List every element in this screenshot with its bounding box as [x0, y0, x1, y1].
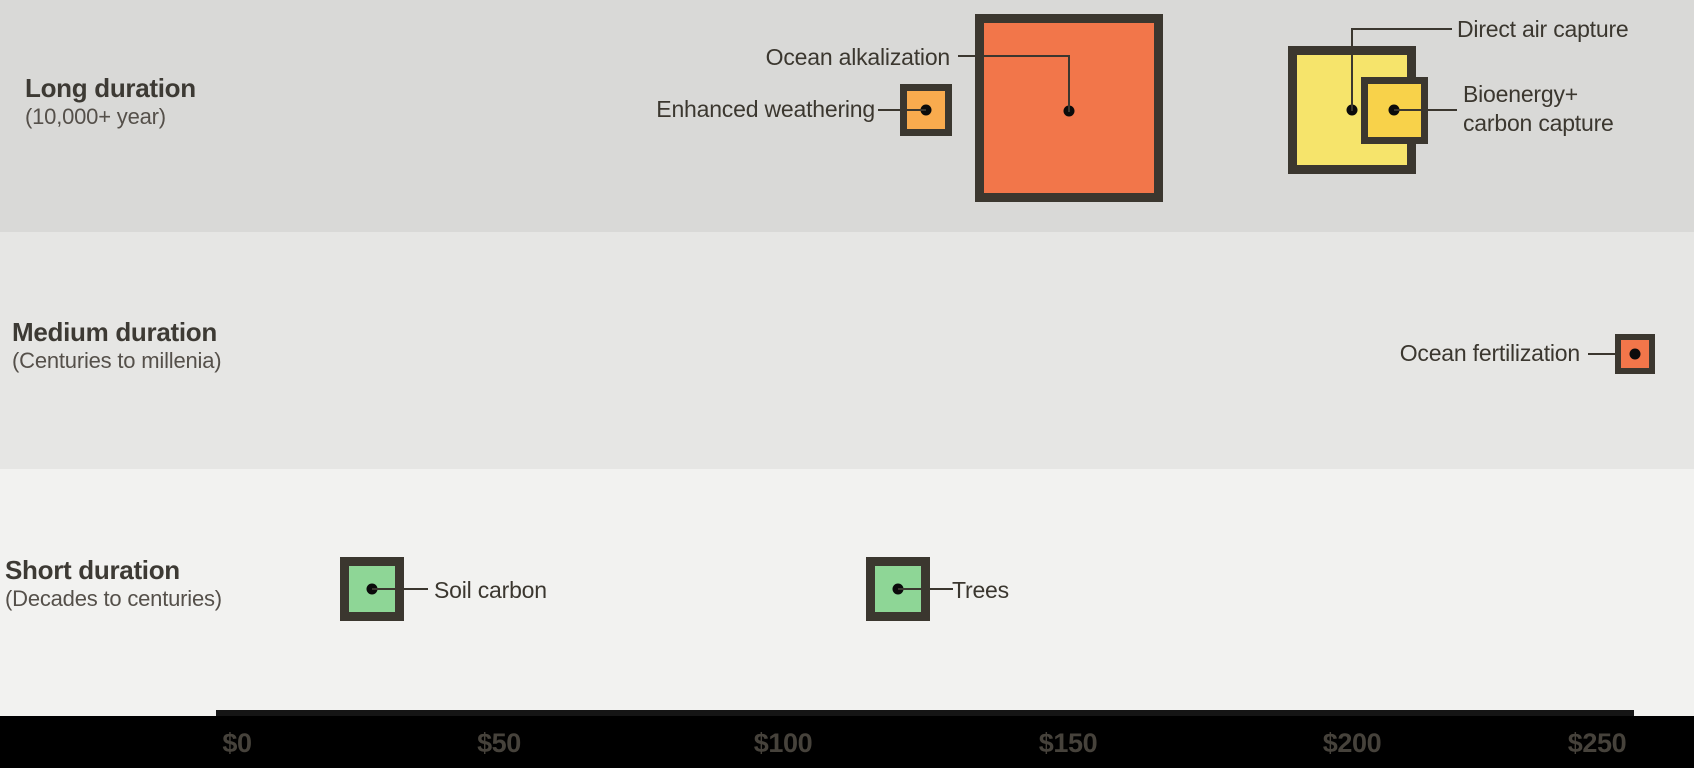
axis-tick-50: $50: [477, 728, 521, 759]
leader-line-soil-carbon: [372, 588, 428, 590]
label-ocean-fertilization: Ocean fertilization: [1080, 339, 1580, 368]
axis-tick-100: $100: [754, 728, 812, 759]
leader-line-ocean-alkalization-horizontal: [958, 55, 1070, 57]
leader-line-ocean-fertilization: [1588, 353, 1618, 355]
axis-tick-250: $250: [1568, 728, 1626, 759]
leader-line-enhanced-weathering: [878, 109, 926, 111]
label-enhanced-weathering: Enhanced weathering: [370, 95, 875, 124]
band-short-duration: [0, 469, 1694, 710]
label-bioenergy-line2: carbon capture: [1463, 110, 1614, 136]
label-bioenergy-line1: Bioenergy+: [1463, 81, 1578, 107]
row-label-long-duration: Long duration (10,000+ year): [25, 74, 196, 130]
row-label-medium-duration: Medium duration (Centuries to millenia): [12, 318, 221, 374]
row-title-long: Long duration: [25, 74, 196, 103]
row-subtitle-long: (10,000+ year): [25, 103, 196, 131]
row-title-medium: Medium duration: [12, 318, 221, 347]
carbon-removal-chart: Long duration (10,000+ year) Medium dura…: [0, 0, 1694, 768]
leader-line-direct-air-capture-vertical: [1351, 28, 1353, 111]
label-bioenergy-carbon-capture: Bioenergy+ carbon capture: [1463, 80, 1614, 139]
row-title-short: Short duration: [5, 556, 222, 585]
axis-line: [216, 710, 1634, 716]
label-direct-air-capture: Direct air capture: [1457, 15, 1629, 44]
row-subtitle-short: (Decades to centuries): [5, 585, 222, 613]
axis-tick-200: $200: [1323, 728, 1381, 759]
label-soil-carbon: Soil carbon: [434, 576, 547, 605]
axis-band: [0, 716, 1694, 768]
label-trees: Trees: [952, 576, 1009, 605]
label-ocean-alkalization: Ocean alkalization: [445, 43, 950, 72]
leader-line-trees: [898, 588, 953, 590]
leader-line-bioenergy-carbon-capture: [1394, 109, 1457, 111]
row-label-short-duration: Short duration (Decades to centuries): [5, 556, 222, 612]
axis-tick-150: $150: [1039, 728, 1097, 759]
leader-line-direct-air-capture-horizontal: [1351, 28, 1452, 30]
leader-line-ocean-alkalization-vertical: [1068, 55, 1070, 112]
marker-dot-ocean-fertilization: [1630, 349, 1641, 360]
row-subtitle-medium: (Centuries to millenia): [12, 347, 221, 375]
axis-tick-0: $0: [222, 728, 251, 759]
